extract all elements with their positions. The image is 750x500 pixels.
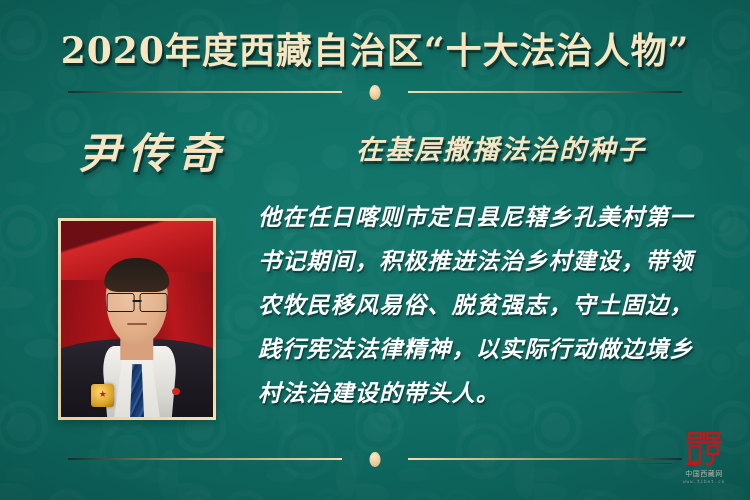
citation-line: 村法治建设的带头人。 bbox=[258, 372, 742, 416]
divider-line-right bbox=[408, 91, 682, 93]
citation-line: 践行宪法法律精神，以实际行动做边境乡 bbox=[258, 328, 742, 372]
logo-url: www.tibet.cn bbox=[672, 479, 736, 486]
subtitle: 在基层撒播法治的种子 bbox=[262, 128, 740, 167]
portrait-frame bbox=[58, 218, 216, 420]
citation-paragraph: 他在任日喀则市定日县尼辖乡孔美村第一 书记期间，积极推进法治乡村建设，带领 农牧… bbox=[258, 196, 742, 416]
citation-line: 他在任日喀则市定日县尼辖乡孔美村第一 bbox=[258, 196, 742, 240]
citation-line: 书记期间，积极推进法治乡村建设，带领 bbox=[258, 240, 742, 284]
glasses-lens-right bbox=[140, 293, 168, 313]
divider-line-left bbox=[68, 458, 342, 460]
page-title: 2020年度西藏自治区“十大法治人物” bbox=[0, 22, 750, 74]
divider-bottom bbox=[68, 452, 682, 466]
glasses-icon bbox=[107, 293, 168, 311]
tibet-net-logo-icon bbox=[682, 429, 726, 467]
logo-rule bbox=[628, 463, 672, 464]
award-poster: 2020年度西藏自治区“十大法治人物” 尹传奇 在基层撒播法治的种子 他在任日喀… bbox=[0, 0, 750, 500]
portrait-photo bbox=[61, 221, 213, 417]
divider-top bbox=[68, 85, 682, 99]
divider-diamond-icon bbox=[370, 452, 381, 467]
award-medal-icon bbox=[91, 384, 114, 408]
site-logo[interactable]: 中国西藏网 www.tibet.cn bbox=[672, 429, 736, 486]
citation-line: 农牧民移风易俗、脱贫强志，守土固边， bbox=[258, 284, 742, 328]
divider-diamond-icon bbox=[370, 85, 381, 100]
glasses-lens-left bbox=[107, 293, 135, 313]
logo-name: 中国西藏网 bbox=[672, 470, 736, 479]
lapel-badge-icon bbox=[172, 388, 180, 396]
divider-line-left bbox=[68, 91, 342, 93]
portrait-mouth bbox=[127, 323, 147, 325]
divider-line-right bbox=[408, 458, 682, 460]
honoree-name: 尹传奇 bbox=[28, 120, 278, 181]
